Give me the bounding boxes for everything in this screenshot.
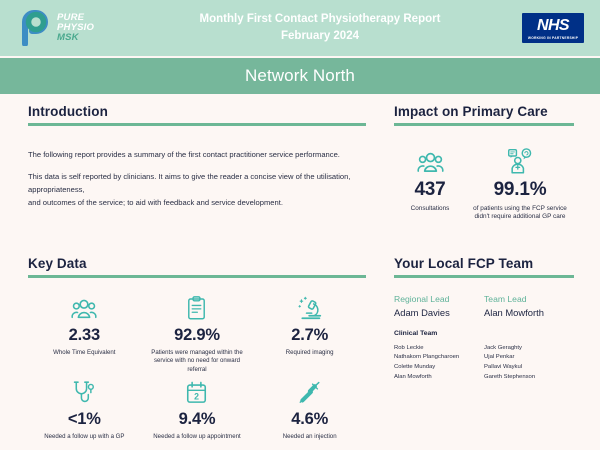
key-data-divider bbox=[28, 275, 366, 278]
stethoscope-icon bbox=[32, 374, 137, 404]
key-data-cell-managed: 92.9% Patients were managed within the s… bbox=[141, 290, 254, 374]
team-section: Your Local FCP Team Regional Lead Adam D… bbox=[394, 256, 574, 382]
key-data-caption-3: Needed a follow up with a GP bbox=[32, 433, 137, 442]
key-data-value-3: <1% bbox=[32, 410, 137, 429]
team-lead-regional: Regional Lead Adam Davies bbox=[394, 294, 484, 318]
svg-text:2: 2 bbox=[195, 391, 200, 401]
report-header: PURE PHYSIO MSK Monthly First Contact Ph… bbox=[0, 0, 600, 56]
key-data-cell-injection: 4.6% Needed an injection bbox=[253, 374, 366, 450]
introduction-paragraph-2: This data is self reported by clinicians… bbox=[28, 170, 366, 210]
team-leads: Regional Lead Adam Davies Team Lead Alan… bbox=[394, 294, 574, 318]
introduction-body: The following report provides a summary … bbox=[28, 148, 366, 210]
introduction-section: Introduction The following report provid… bbox=[28, 104, 366, 210]
microscope-icon bbox=[257, 290, 362, 320]
brand-wordmark: PURE PHYSIO MSK bbox=[57, 13, 94, 42]
key-data-value-1: 92.9% bbox=[145, 326, 250, 345]
clipboard-icon bbox=[145, 290, 250, 320]
key-data-cell-wte: 2.33 Whole Time Equivalent bbox=[28, 290, 141, 374]
key-data-value-2: 2.7% bbox=[257, 326, 362, 345]
team-lead-team: Team Lead Alan Mowforth bbox=[484, 294, 574, 318]
introduction-paragraph-1: The following report provides a summary … bbox=[28, 148, 366, 161]
key-data-heading: Key Data bbox=[28, 256, 366, 271]
introduction-divider bbox=[28, 123, 366, 126]
impact-stats: 437 Consultations bbox=[394, 144, 574, 223]
page-title: Monthly First Contact Physiotherapy Repo… bbox=[118, 11, 522, 44]
key-data-cell-appt-followup: 2 9.4% Needed a follow up appointment bbox=[141, 374, 254, 450]
list-item: Ujal Penkar bbox=[484, 353, 574, 363]
team-divider bbox=[394, 275, 574, 278]
role-label-regional: Regional Lead bbox=[394, 294, 484, 304]
list-item: Nathakorn Plangcharoen bbox=[394, 353, 484, 363]
calendar-icon: 2 bbox=[145, 374, 250, 404]
impact-section: Impact on Primary Care 437 Consultations bbox=[394, 104, 574, 222]
team-heading: Your Local FCP Team bbox=[394, 256, 574, 271]
nhs-tagline: WORKING IN PARTNERSHIP bbox=[528, 36, 578, 40]
key-data-caption-2: Required imaging bbox=[257, 349, 362, 358]
nhs-logo: NHS WORKING IN PARTNERSHIP bbox=[522, 13, 584, 43]
people-group-icon bbox=[32, 290, 137, 320]
key-data-caption-5: Needed an injection bbox=[257, 433, 362, 442]
impact-caption-0: Consultations bbox=[394, 205, 466, 214]
key-data-section: Key Data 2.33 Whole Time Equivalent bbox=[28, 256, 366, 450]
key-data-value-5: 4.6% bbox=[257, 410, 362, 429]
list-item: Rob Leckie bbox=[394, 344, 484, 354]
person-consultation-icon bbox=[466, 144, 574, 174]
introduction-heading: Introduction bbox=[28, 104, 366, 119]
network-banner: Network North bbox=[0, 58, 600, 94]
brand-line-3: MSK bbox=[57, 33, 94, 43]
impact-value-1: 99.1% bbox=[466, 179, 574, 201]
people-group-icon bbox=[394, 144, 466, 174]
list-item: Jack Geraghty bbox=[484, 344, 574, 354]
clinical-team-column-1: Rob Leckie Nathakorn Plangcharoen Colett… bbox=[394, 344, 484, 383]
key-data-value-4: 9.4% bbox=[145, 410, 250, 429]
role-name-regional: Adam Davies bbox=[394, 307, 484, 318]
network-name: Network North bbox=[245, 66, 355, 86]
report-period: February 2024 bbox=[118, 28, 522, 45]
impact-caption-1: of patients using the FCP service didn't… bbox=[466, 205, 574, 223]
key-data-caption-4: Needed a follow up appointment bbox=[145, 433, 250, 442]
key-data-caption-1: Patients were managed within the service… bbox=[145, 349, 250, 375]
impact-value-0: 437 bbox=[394, 179, 466, 201]
list-item: Gareth Stephenson bbox=[484, 373, 574, 383]
role-label-team: Team Lead bbox=[484, 294, 574, 304]
key-data-grid: 2.33 Whole Time Equivalent 92.9% Patient… bbox=[28, 290, 366, 450]
key-data-cell-gp-followup: <1% Needed a follow up with a GP bbox=[28, 374, 141, 450]
impact-stat-consultations: 437 Consultations bbox=[394, 144, 466, 223]
list-item: Pallavi Waykul bbox=[484, 363, 574, 373]
key-data-cell-imaging: 2.7% Required imaging bbox=[253, 290, 366, 374]
report-page: PURE PHYSIO MSK Monthly First Contact Ph… bbox=[0, 0, 600, 450]
clinical-team-lists: Rob Leckie Nathakorn Plangcharoen Colett… bbox=[394, 344, 574, 383]
list-item: Alan Mowforth bbox=[394, 373, 484, 383]
syringe-icon bbox=[257, 374, 362, 404]
report-title: Monthly First Contact Physiotherapy Repo… bbox=[118, 11, 522, 28]
list-item: Colette Munday bbox=[394, 363, 484, 373]
clinical-team-heading: Clinical Team bbox=[394, 330, 574, 337]
clinical-team-column-2: Jack Geraghty Ujal Penkar Pallavi Waykul… bbox=[484, 344, 574, 383]
pure-physio-msk-logo-icon bbox=[18, 10, 52, 46]
impact-stat-gp-care: 99.1% of patients using the FCP service … bbox=[466, 144, 574, 223]
nhs-wordmark: NHS bbox=[537, 18, 569, 34]
impact-divider bbox=[394, 123, 574, 126]
key-data-caption-0: Whole Time Equivalent bbox=[32, 349, 137, 358]
role-name-team: Alan Mowforth bbox=[484, 307, 574, 318]
impact-heading: Impact on Primary Care bbox=[394, 104, 574, 119]
key-data-value-0: 2.33 bbox=[32, 326, 137, 345]
